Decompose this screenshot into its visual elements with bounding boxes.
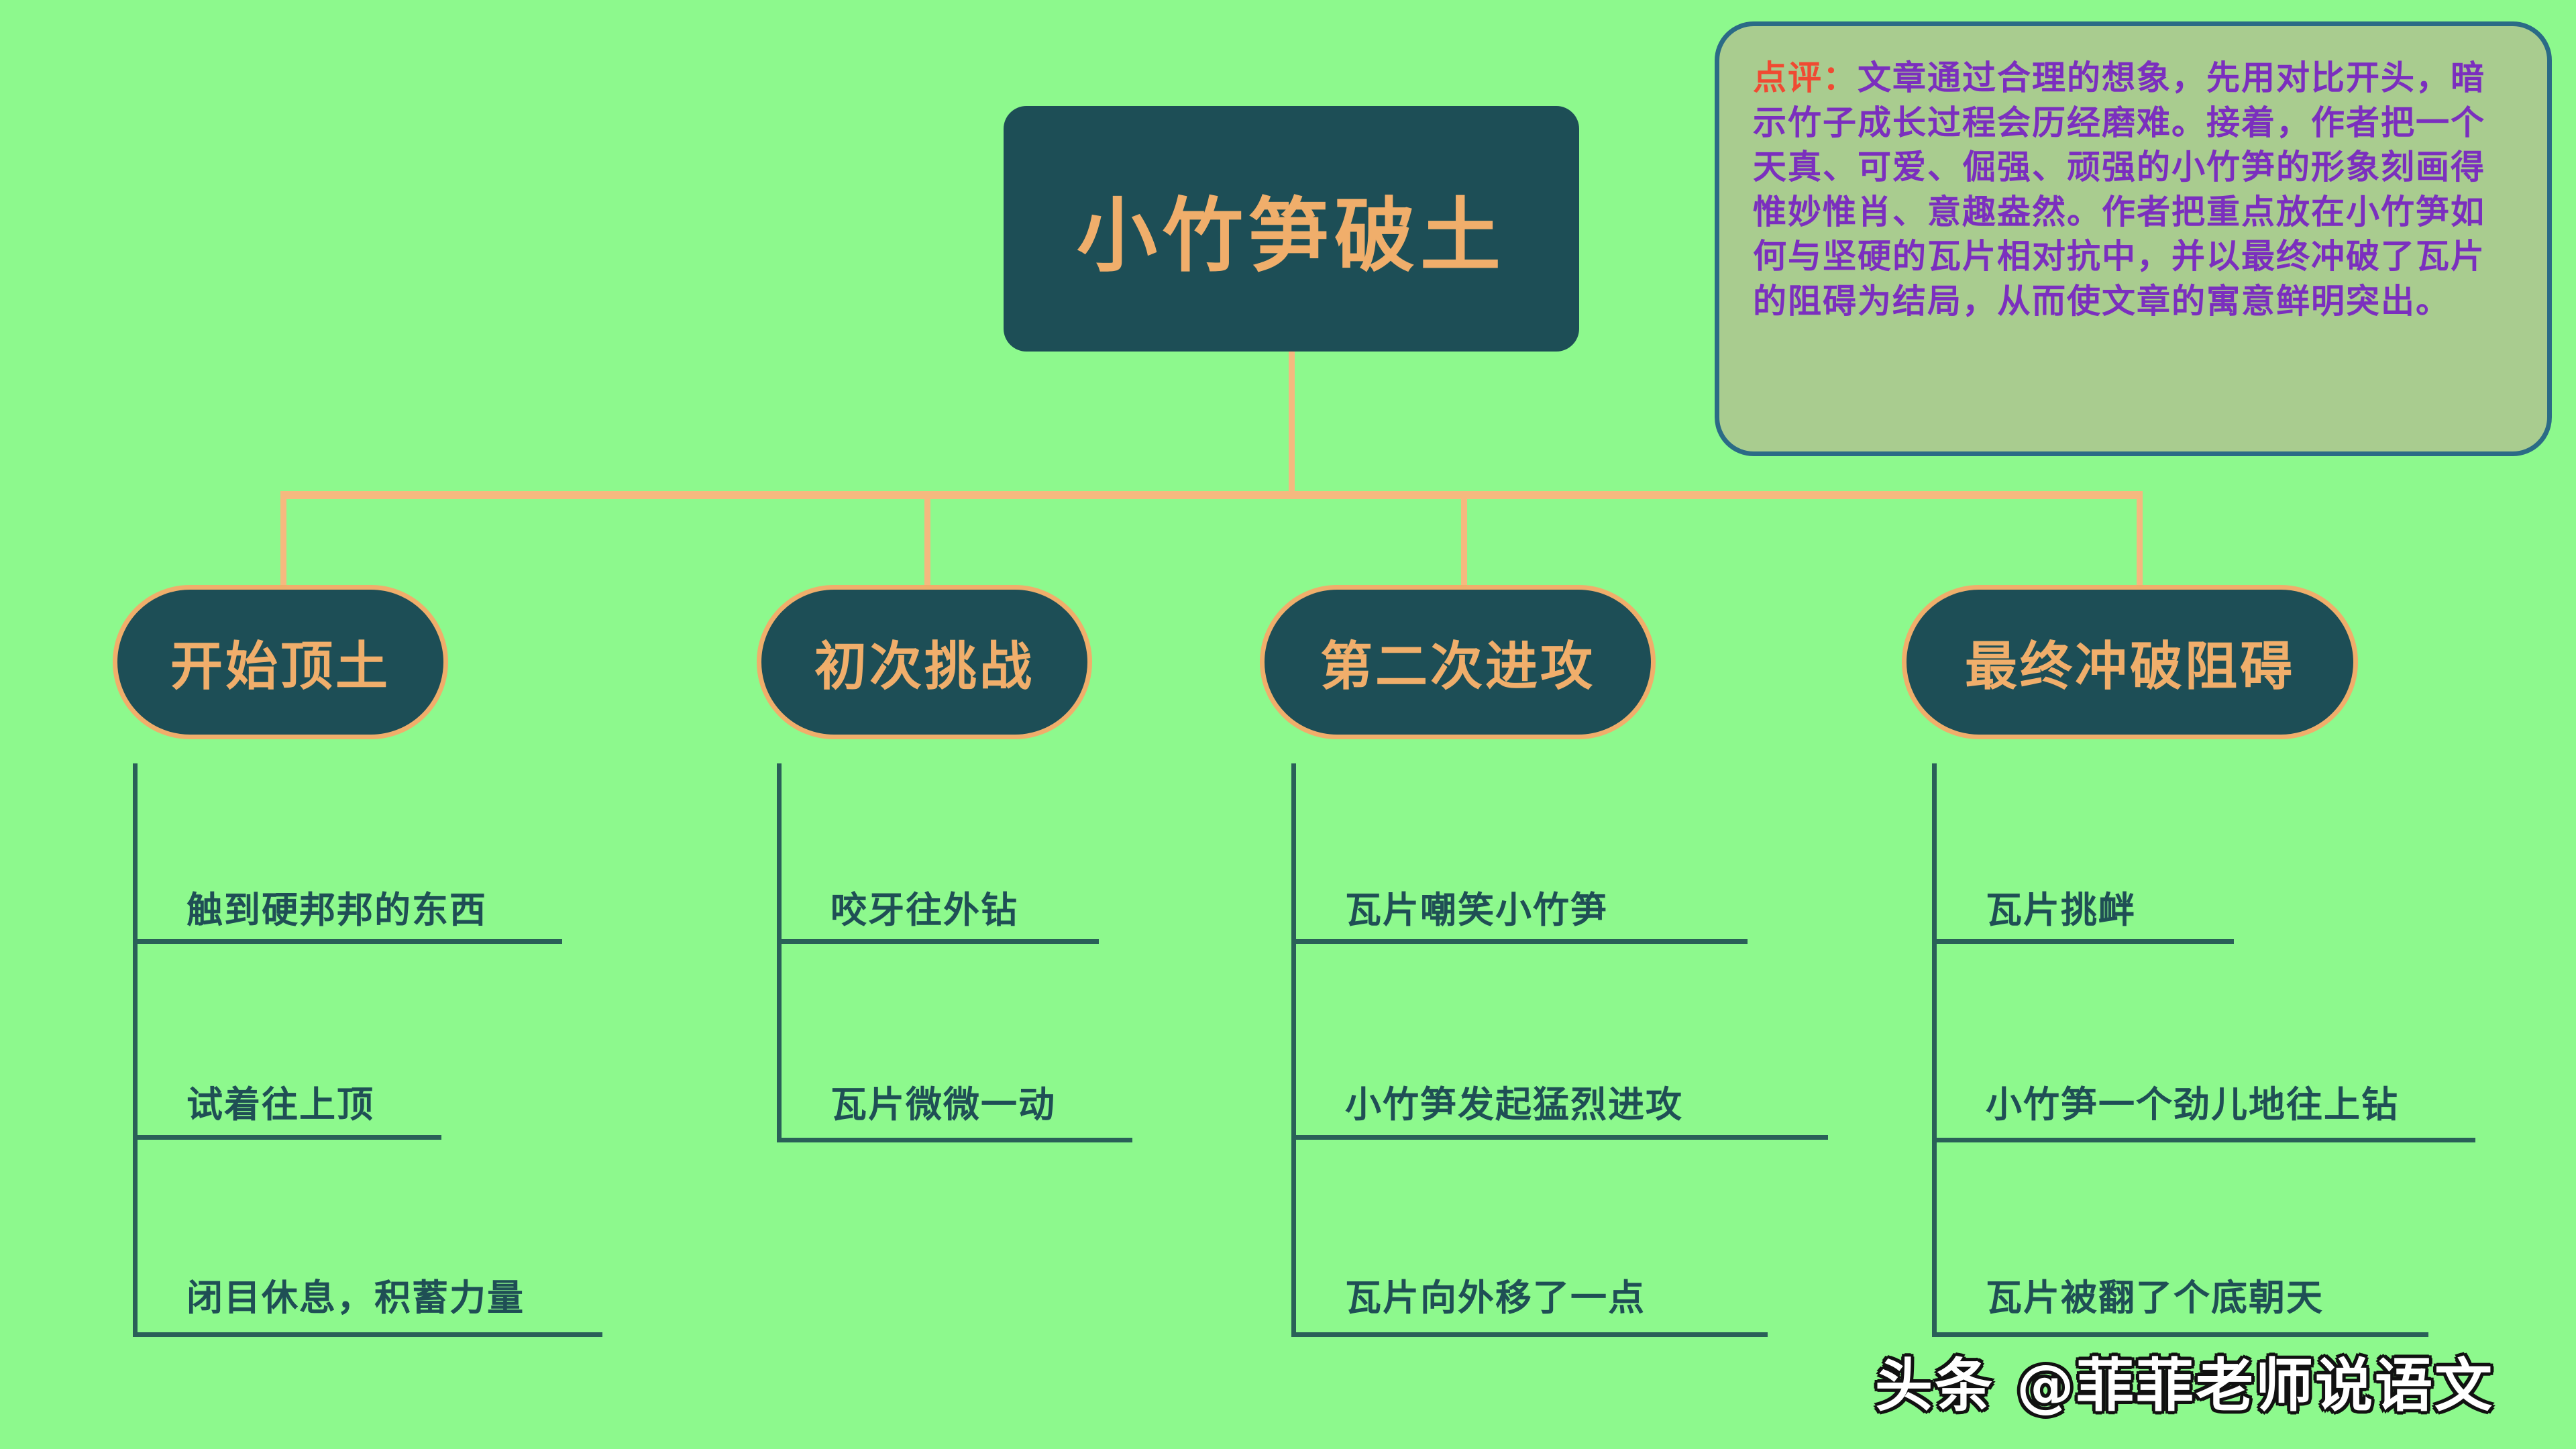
commentary-body: 文章通过合理的想象，先用对比开头，暗示竹子成长过程会历经磨难。接着，作者把一个天… [1753, 58, 2485, 321]
leaf-item-1-3: 闭目休息，积蓄力量 [186, 1268, 525, 1321]
leaf-rule-3-1 [1291, 939, 1748, 944]
connector-root-stem [1289, 352, 1295, 496]
branch-node-2-label: 初次挑战 [814, 625, 1034, 700]
leaf-spine-3 [1291, 763, 1296, 1337]
leaf-spine-4 [1932, 763, 1937, 1337]
leaf-item-1-2: 试着往上顶 [186, 1075, 374, 1128]
leaf-spine-2 [777, 763, 782, 1142]
watermark-text: 头条 @菲菲老师说语文 [1875, 1338, 2494, 1422]
leaf-rule-2-2 [777, 1138, 1132, 1142]
commentary-label: 点评： [1753, 58, 1858, 97]
commentary-text: 点评：文章通过合理的想象，先用对比开头，暗示竹子成长过程会历经磨难。接着，作者把… [1753, 56, 2516, 323]
root-node-label: 小竹笋破土 [1077, 170, 1506, 287]
leaf-item-2-2: 瓦片微微一动 [830, 1075, 1056, 1128]
connector-drop-2 [924, 495, 930, 590]
branch-node-1-label: 开始顶土 [170, 625, 390, 700]
leaf-rule-4-1 [1932, 939, 2234, 944]
branch-node-4-label: 最终冲破阻碍 [1965, 625, 2295, 700]
branch-node-1[interactable]: 开始顶土 [113, 585, 448, 739]
leaf-item-4-1: 瓦片挑衅 [1986, 880, 2136, 933]
root-node[interactable]: 小竹笋破土 [1004, 106, 1579, 352]
leaf-rule-1-1 [133, 939, 562, 944]
branch-node-2[interactable]: 初次挑战 [757, 585, 1092, 739]
leaf-rule-3-2 [1291, 1135, 1828, 1140]
leaf-item-2-1: 咬牙往外钻 [830, 880, 1018, 933]
leaf-rule-4-3 [1932, 1332, 2428, 1337]
leaf-rule-1-2 [133, 1135, 441, 1140]
connector-drop-1 [280, 495, 286, 590]
leaf-spine-1 [133, 763, 138, 1337]
leaf-rule-4-2 [1932, 1138, 2475, 1142]
leaf-item-3-2: 小竹笋发起猛烈进攻 [1345, 1075, 1683, 1128]
mindmap-canvas: 点评：文章通过合理的想象，先用对比开头，暗示竹子成长过程会历经磨难。接着，作者把… [0, 0, 2576, 1449]
connector-horizontal-bus [280, 491, 2143, 499]
connector-drop-3 [1461, 495, 1467, 590]
branch-node-4[interactable]: 最终冲破阻碍 [1902, 585, 2358, 739]
branch-node-3-label: 第二次进攻 [1320, 625, 1595, 700]
leaf-item-3-3: 瓦片向外移了一点 [1345, 1268, 1646, 1321]
branch-node-3[interactable]: 第二次进攻 [1260, 585, 1656, 739]
leaf-rule-1-3 [133, 1332, 602, 1337]
leaf-rule-2-1 [777, 939, 1099, 944]
leaf-item-1-1: 触到硬邦邦的东西 [186, 880, 487, 933]
leaf-item-4-2: 小竹笋一个劲儿地往上钻 [1986, 1075, 2399, 1128]
leaf-item-4-3: 瓦片被翻了个底朝天 [1986, 1268, 2324, 1321]
leaf-rule-3-3 [1291, 1332, 1768, 1337]
commentary-box: 点评：文章通过合理的想象，先用对比开头，暗示竹子成长过程会历经磨难。接着，作者把… [1715, 21, 2552, 456]
connector-drop-4 [2137, 495, 2143, 590]
leaf-item-3-1: 瓦片嘲笑小竹笋 [1345, 880, 1608, 933]
